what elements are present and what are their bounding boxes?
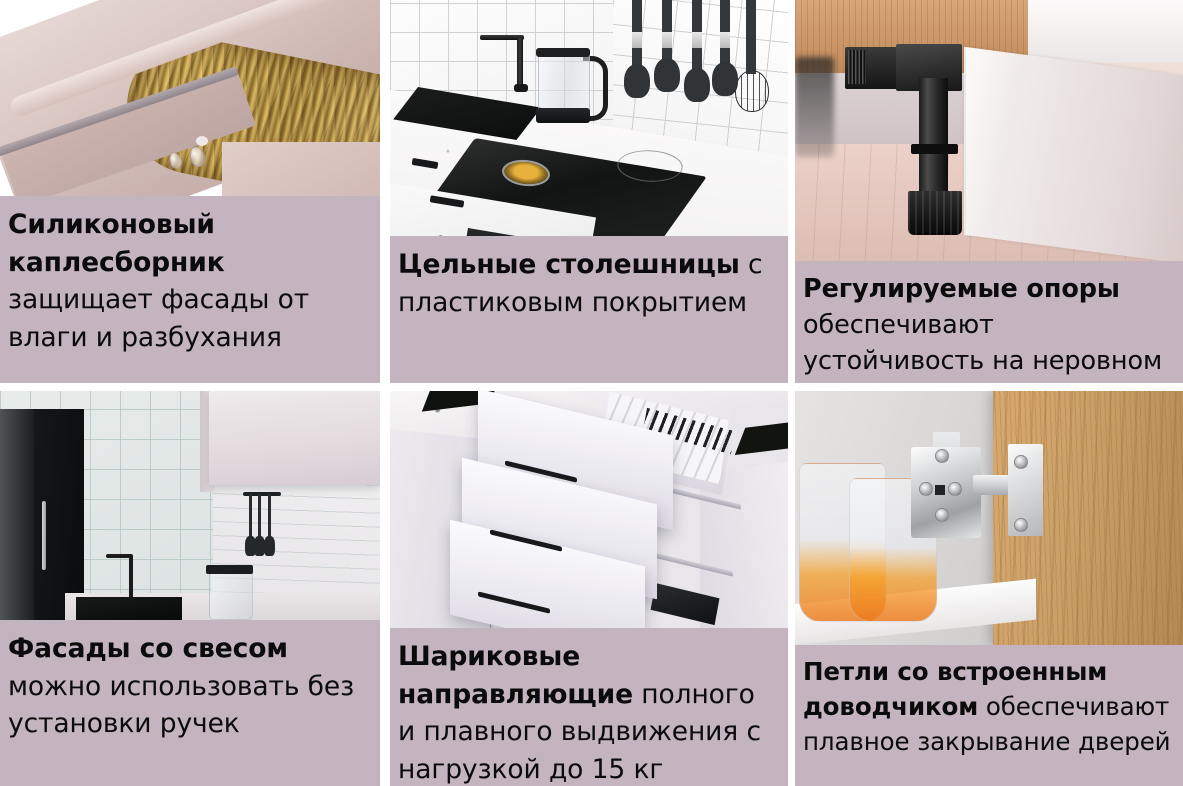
kettle-lid <box>536 48 590 57</box>
whisk-utensil <box>746 0 756 74</box>
cabinet-white-panel <box>1028 0 1183 63</box>
countertop-edge-photo <box>0 0 380 196</box>
kettle-base <box>536 108 590 123</box>
caption-highlight: Силиконовый каплесборник <box>8 209 225 278</box>
hanging-utensil <box>258 494 261 544</box>
card-caption: Регулируемые опоры обеспечивают устойчив… <box>795 261 1183 383</box>
feature-card-solid-countertop[interactable]: Цельные столешницы с пластиковым покрыти… <box>390 0 788 383</box>
screw-icon <box>935 508 949 522</box>
caption-highlight: Цельные столешницы <box>398 249 740 280</box>
caption-text: обеспечивают устойчивость на неровном по… <box>803 310 1162 383</box>
card-caption: Шариковые направляющие полного и плавног… <box>390 628 788 786</box>
caption-text: защищает фасады от влаги и разбухания <box>8 284 309 353</box>
tall-cabinet-side <box>0 409 34 620</box>
hanging-utensil <box>268 494 271 544</box>
leg-foot <box>908 191 962 235</box>
feature-grid: Силиконовый каплесборник защищает фасады… <box>0 0 1183 786</box>
kettle-lid <box>206 565 253 574</box>
faucet-body <box>129 556 133 600</box>
hanging-utensil <box>249 494 252 544</box>
upper-cabinet <box>209 391 380 485</box>
feature-card-silicone-drip[interactable]: Силиконовый каплесборник защищает фасады… <box>0 0 380 383</box>
turner-utensil <box>692 0 702 76</box>
adjustable-leg-photo <box>795 0 1183 261</box>
soft-close-hinge-photo <box>795 391 1183 645</box>
plinth-panel <box>966 47 1183 261</box>
glass-kettle <box>209 568 253 620</box>
feature-card-soft-close-hinges[interactable]: Петли со встроенным доводчиком обеспечив… <box>795 391 1183 786</box>
feature-card-ball-bearing-slides[interactable]: Шариковые направляющие полного и плавног… <box>390 391 788 786</box>
caption-highlight: Регулируемые опоры <box>803 274 1120 304</box>
background-leg <box>795 57 834 156</box>
card-caption: Цельные столешницы с пластиковым покрыти… <box>390 236 788 383</box>
caption-highlight: Фасады со свесом <box>8 633 288 664</box>
faucet-base <box>514 84 528 92</box>
leg-adjust-ring <box>911 144 958 154</box>
screw-icon <box>1014 455 1028 469</box>
screw-icon <box>935 449 949 463</box>
card-caption: Петли со встроенным доводчиком обеспечив… <box>795 645 1183 786</box>
handleless-facades-photo <box>0 391 380 620</box>
feature-card-overhang-facades[interactable]: Фасады со свесом можно использовать без … <box>0 391 380 786</box>
hinge-adjust-screw <box>935 485 945 495</box>
caption-text: можно использовать без установки ручек <box>8 671 354 740</box>
spatula-utensil <box>632 0 642 72</box>
cooktop-right <box>735 419 788 455</box>
ladle-utensil <box>720 0 730 70</box>
sink-basin <box>76 597 182 620</box>
ball-bearing-drawers-photo <box>390 391 788 628</box>
caption-highlight: Шариковые направляющие <box>398 641 633 710</box>
cabinet-side-right <box>222 142 380 196</box>
card-caption: Силиконовый каплесборник защищает фасады… <box>0 196 380 383</box>
spoon-utensil <box>662 0 672 66</box>
faucet-body <box>517 38 523 88</box>
tall-cabinet-handle <box>42 501 46 570</box>
feature-card-adjustable-legs[interactable]: Регулируемые опоры обеспечивают устойчив… <box>795 0 1183 383</box>
kitchen-countertop-photo <box>390 0 788 236</box>
card-caption: Фасады со свесом можно использовать без … <box>0 620 380 786</box>
drip-nub <box>196 136 208 146</box>
